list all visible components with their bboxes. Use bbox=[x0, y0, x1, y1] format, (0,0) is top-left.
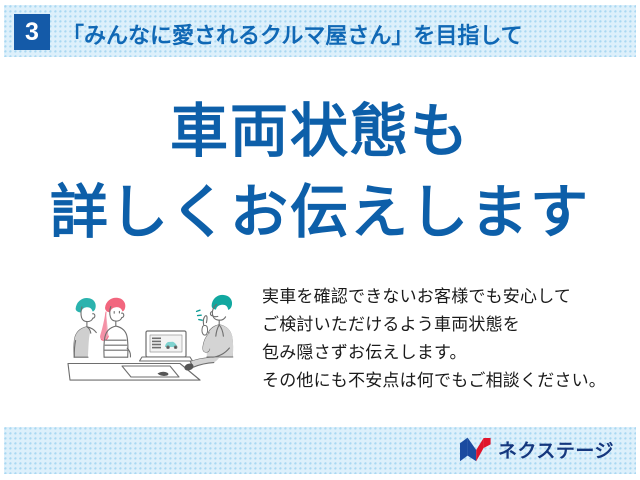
laptop bbox=[140, 331, 193, 361]
section-number-badge: 3 bbox=[14, 14, 50, 50]
figure-customer-male bbox=[74, 298, 96, 357]
speech-marks bbox=[197, 310, 203, 320]
brand-logo: ネクステージ bbox=[460, 436, 614, 463]
body-line-3: 包み隠さずお伝えします。 bbox=[262, 339, 622, 367]
consultation-illustration bbox=[62, 278, 252, 386]
header-band: 3 「みんなに愛されるクルマ屋さん」を目指して bbox=[4, 5, 636, 57]
nextstage-n-logo-icon bbox=[460, 437, 491, 462]
body-line-4: その他にも不安点は何でもご相談ください。 bbox=[262, 367, 622, 395]
headline-line-1: 車両状態も bbox=[0, 100, 640, 164]
footer-band: ネクステージ bbox=[4, 427, 636, 474]
figure-customer-female bbox=[100, 298, 130, 357]
body-copy: 実車を確認できないお客様でも安心して ご検討いただけるよう車両状態を 包み隠さず… bbox=[262, 283, 622, 395]
figure-staff bbox=[185, 295, 233, 370]
body-line-2: ご検討いただけるよう車両状態を bbox=[262, 311, 622, 339]
document bbox=[122, 366, 179, 377]
promo-panel: 3 「みんなに愛されるクルマ屋さん」を目指して 車両状態も 詳しくお伝えします bbox=[0, 0, 640, 480]
headline-line-2: 詳しくお伝えします bbox=[0, 181, 640, 245]
header-title: 「みんなに愛されるクルマ屋さん」を目指して bbox=[62, 18, 523, 50]
consultation-illustration-svg bbox=[62, 278, 252, 386]
body-line-1: 実車を確認できないお客様でも安心して bbox=[262, 283, 622, 311]
brand-name: ネクステージ bbox=[498, 436, 614, 463]
